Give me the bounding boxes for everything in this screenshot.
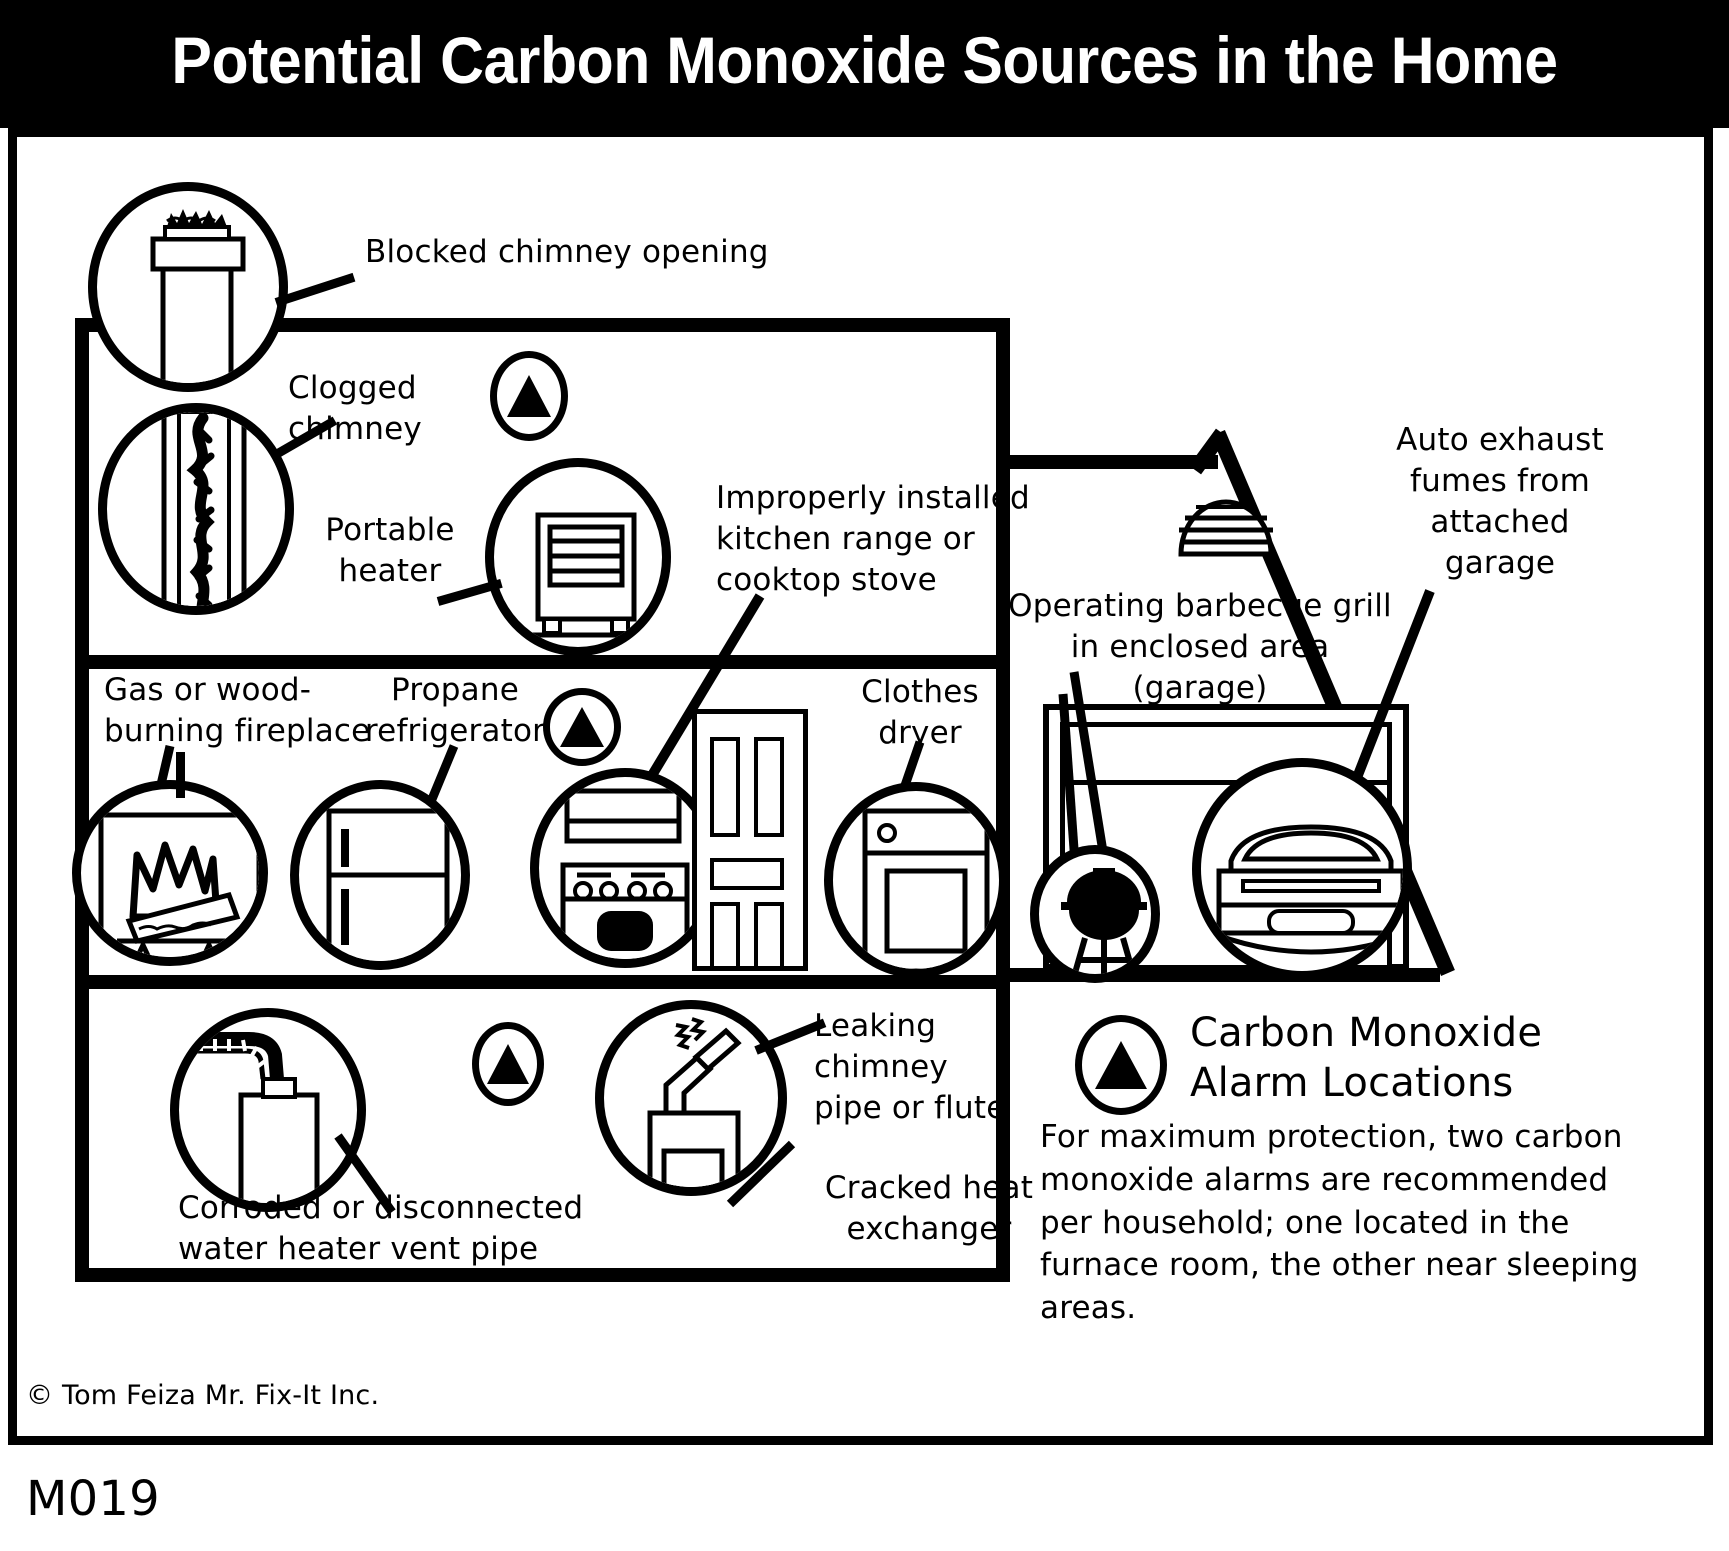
bubble-fireplace [72,780,268,966]
label-fireplace: Gas or wood- burning fireplace [104,670,404,752]
co-alarm-triangle-icon [507,375,551,417]
label-portable-heater: Portable heater [300,510,480,592]
label-water-heater-vent: Corroded or disconnected water heater ve… [178,1188,658,1270]
co-alarm-triangle-icon [560,707,604,747]
label-cracked-heat-exchanger: Cracked heat exchanger [784,1168,1074,1250]
bubble-car [1192,758,1412,980]
label-blocked-chimney: Blocked chimney opening [365,232,785,273]
co-alarm-marker-basement [472,1022,544,1106]
door-panel-bottom-right [754,902,784,970]
blocked-chimney-icon [97,191,288,392]
label-auto-exhaust: Auto exhaust fumes from attached garage [1330,420,1670,584]
fireplace-flue [176,752,185,798]
door-panel-top-right [754,737,784,837]
page-title: Potential Carbon Monoxide Sources in the… [69,22,1660,98]
barbecue-grill-icon [1039,854,1160,983]
floor-divider-lower [80,975,1005,989]
image-code: M019 [26,1468,326,1531]
door-panel-bottom-left [710,902,740,970]
refrigerator-icon [299,789,470,970]
label-kitchen-range: Improperly installed kitchen range or co… [716,478,1136,601]
clothes-dryer-icon [833,791,1008,978]
legend-note: For maximum protection, two carbon monox… [1040,1116,1700,1330]
fireplace-icon [81,789,268,966]
diagram-page: Potential Carbon Monoxide Sources in the… [0,0,1729,1551]
label-propane-refrigerator: Propane refrigerator [360,670,550,752]
bubble-blocked-chimney [88,182,288,392]
clogged-chimney-icon [107,412,294,615]
car-icon [1201,767,1412,980]
door-panel-top-left [710,737,740,837]
leader-barbecue-grill [1060,668,1120,868]
floor-divider-upper [80,655,1005,669]
bubble-clothes-dryer [824,782,1008,978]
copyright-text: © Tom Feiza Mr. Fix-It Inc. [26,1378,526,1414]
door-panel-mid [710,858,784,890]
co-alarm-triangle-icon [487,1044,529,1084]
gable-vent-icon [1176,492,1276,560]
house-bottom-line [75,1268,1010,1282]
co-alarm-marker-attic [490,351,568,441]
bubble-refrigerator [290,780,470,970]
bubble-barbecue-grill [1030,845,1160,983]
co-alarm-marker-mainfloor [543,688,621,766]
legend-title: Carbon Monoxide Alarm Locations [1190,1008,1580,1109]
garage-eave-line [1008,455,1218,469]
title-banner: Potential Carbon Monoxide Sources in the… [0,0,1729,128]
bubble-clogged-chimney [98,403,294,615]
label-leaking-chimney-pipe: Leaking chimney pipe or flute [814,1006,1114,1129]
